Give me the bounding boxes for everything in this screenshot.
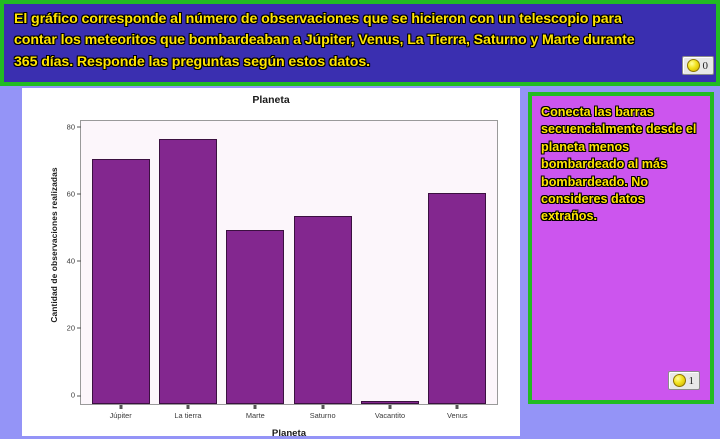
y-axis-tick: 80: [67, 122, 81, 131]
panel-score-badge: 1: [668, 371, 701, 390]
header-instruction-box: El gráfico corresponde al número de obse…: [4, 4, 716, 82]
header-instruction-text: El gráfico corresponde al número de obse…: [14, 9, 654, 73]
bar-marte[interactable]: [226, 230, 284, 404]
bar-vacantito[interactable]: [361, 401, 419, 404]
bar-slot: Júpiter: [92, 121, 150, 404]
y-axis-tick: 20: [67, 323, 81, 332]
x-axis-tick-label: Venus: [447, 411, 468, 420]
panel-score-value: 1: [689, 375, 695, 387]
x-axis-tick-label: La tierra: [174, 411, 201, 420]
x-axis-label: Planeta: [80, 428, 498, 439]
chart-card: Planeta Cantidad de observaciones realiz…: [22, 88, 520, 436]
y-axis-tick: 40: [67, 256, 81, 265]
bar-saturno[interactable]: [294, 216, 352, 404]
bar-slot: Vacantito: [361, 121, 419, 404]
coin-icon: [687, 59, 700, 72]
task-panel: Conecta las barras secuencialmente desde…: [528, 92, 714, 404]
plot-area: 020406080 JúpiterLa tierraMarteSaturnoVa…: [80, 120, 498, 405]
bar-slot: Venus: [428, 121, 486, 404]
coin-icon: [673, 374, 686, 387]
bar-la-tierra[interactable]: [159, 139, 217, 404]
bar-venus[interactable]: [428, 193, 486, 404]
task-instruction-box: Conecta las barras secuencialmente desde…: [532, 96, 710, 400]
x-axis-tick: [456, 405, 459, 409]
y-axis-tick: 0: [71, 391, 81, 400]
x-axis-tick: [254, 405, 257, 409]
x-axis-tick: [186, 405, 189, 409]
header-score-value: 0: [703, 60, 709, 72]
bar-series: JúpiterLa tierraMarteSaturnoVacantitoVen…: [81, 121, 497, 404]
y-axis-label: Cantidad de observaciones realizadas: [49, 150, 59, 340]
x-axis-tick-label: Vacantito: [375, 411, 405, 420]
x-axis-tick: [119, 405, 122, 409]
bar-slot: Saturno: [294, 121, 352, 404]
x-axis-tick-label: Saturno: [310, 411, 336, 420]
header-score-badge: 0: [682, 56, 715, 75]
bar-slot: Marte: [226, 121, 284, 404]
header-banner: El gráfico corresponde al número de obse…: [0, 0, 720, 86]
x-axis-tick: [321, 405, 324, 409]
x-axis-tick-label: Júpiter: [110, 411, 132, 420]
bar-slot: La tierra: [159, 121, 217, 404]
task-instruction-text: Conecta las barras secuencialmente desde…: [541, 104, 701, 226]
bar-jupiter[interactable]: [92, 159, 150, 404]
chart-title: Planeta: [22, 94, 520, 106]
y-axis-tick: 60: [67, 189, 81, 198]
chart-body: Cantidad de observaciones realizadas 020…: [22, 110, 520, 436]
x-axis-tick: [388, 405, 391, 409]
x-axis-tick-label: Marte: [246, 411, 265, 420]
